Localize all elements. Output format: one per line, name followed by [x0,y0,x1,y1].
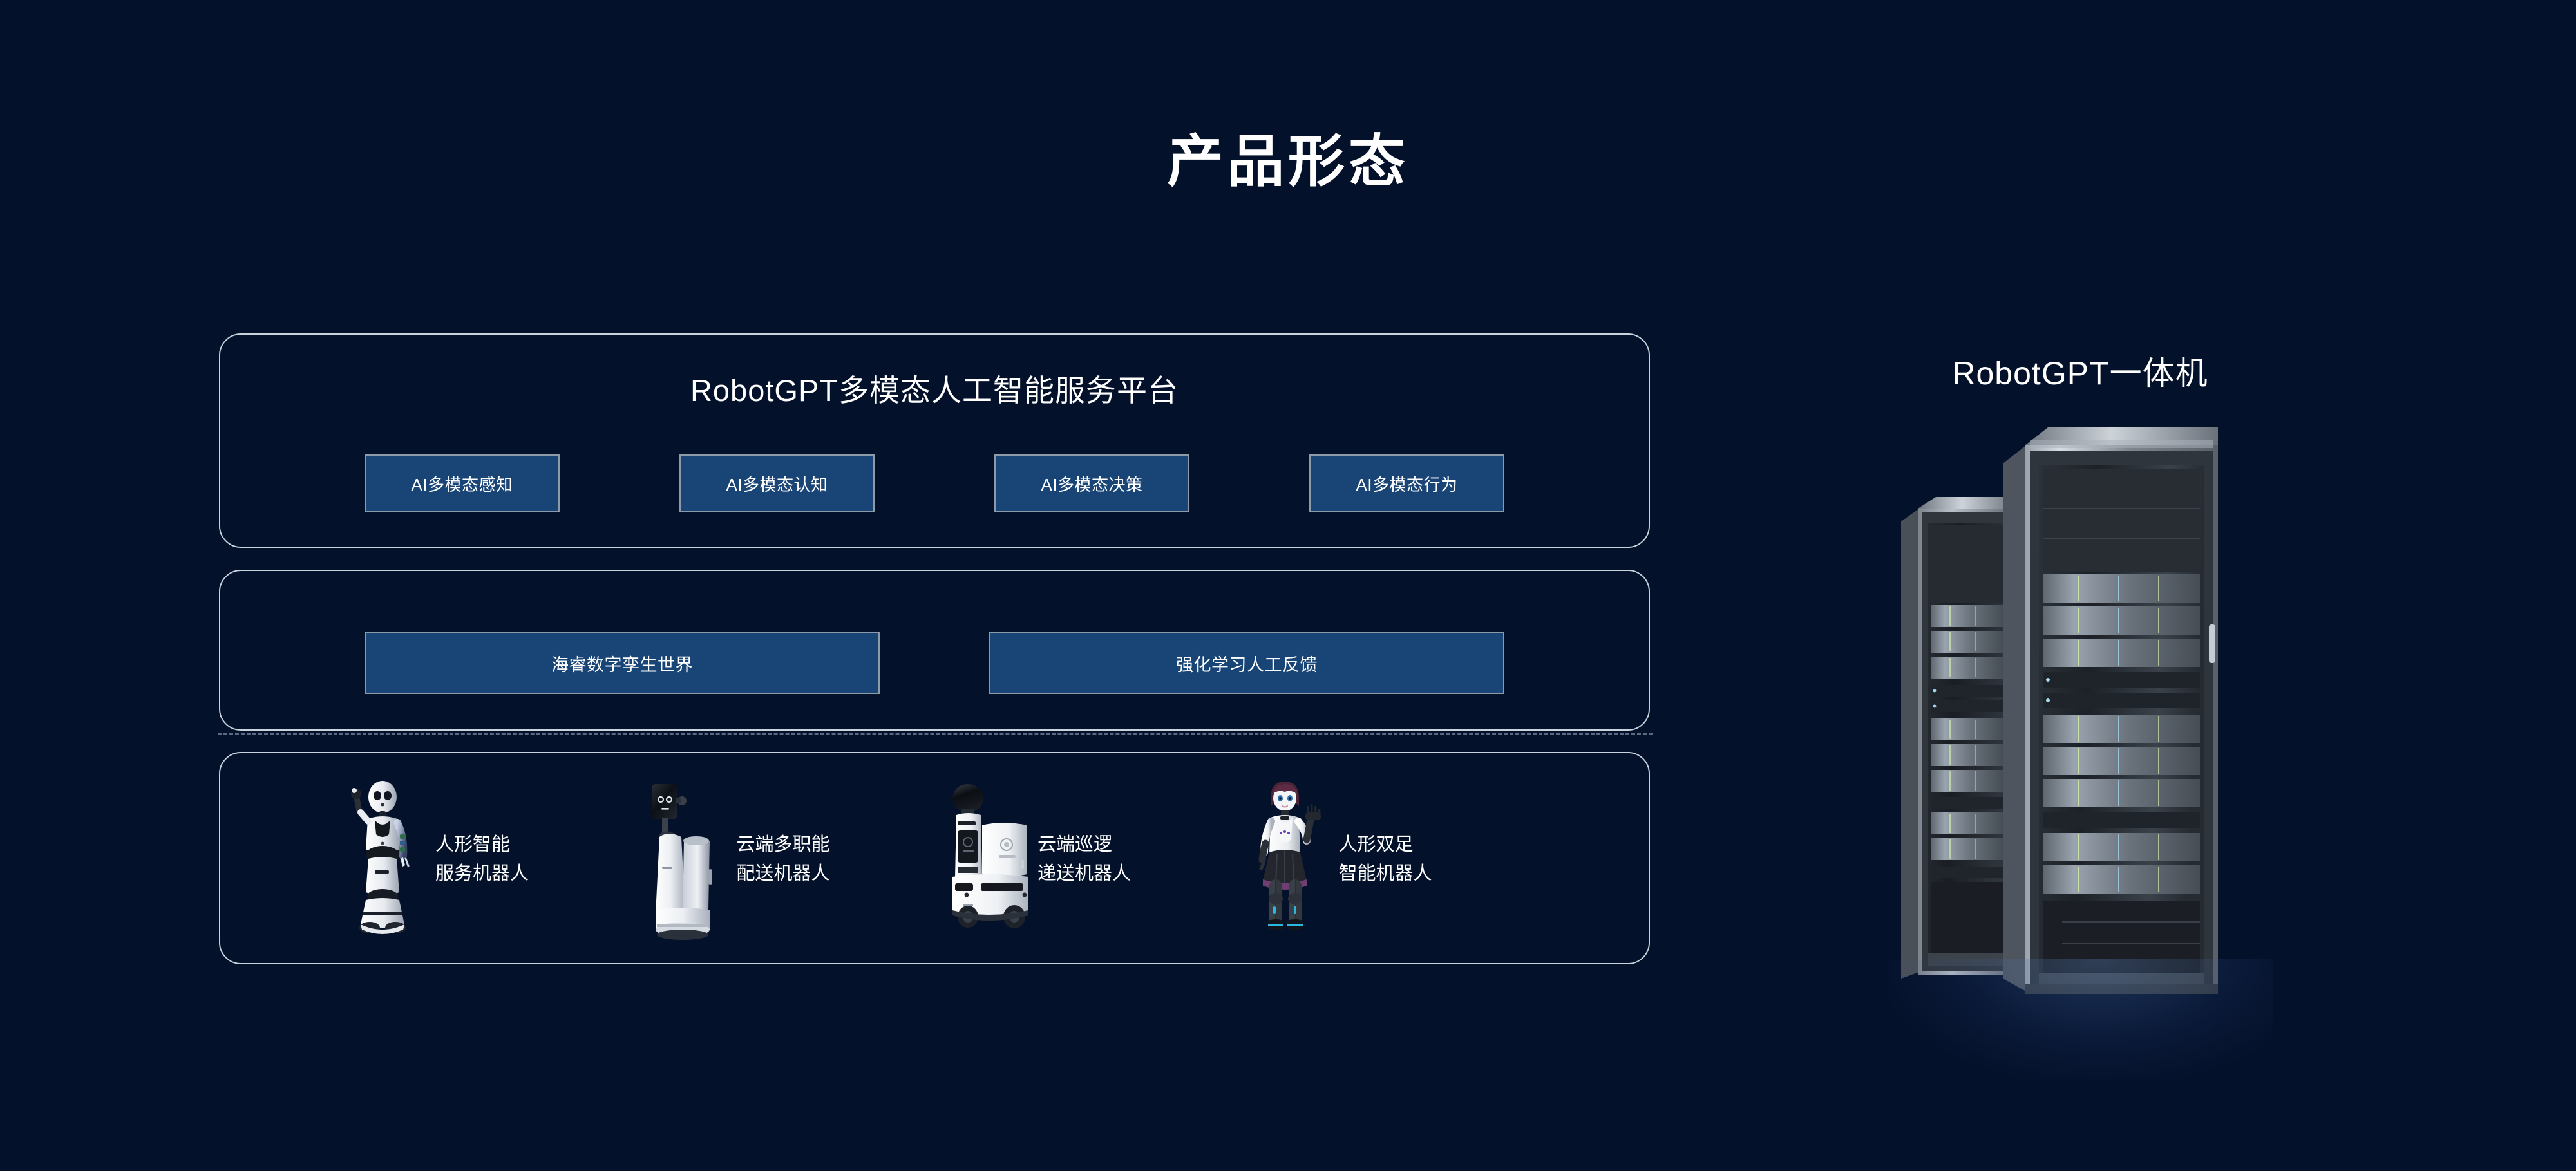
capability-chip-cognition[interactable]: AI多模态认知 [679,454,875,512]
humanoid-service-robot-icon [332,773,429,946]
engine-panel: 海睿数字孪生世界 强化学习人工反馈 [219,570,1650,731]
server-section-title: RobotGPT一体机 [1790,348,2370,394]
robot-label-line2: 递送机器人 [1037,859,1131,888]
robot-panel: 人形智能 服务机器人 [219,752,1650,964]
robot-label: 云端巡逻 递送机器人 [1037,830,1131,888]
robot-label: 云端多职能 配送机器人 [737,830,830,888]
platform-panel-title: RobotGPT多模态人工智能服务平台 [220,366,1649,410]
cloud-patrol-vehicle-icon [934,773,1031,946]
page-title: 产品形态 [0,116,2576,198]
robot-label-line1: 云端多职能 [737,830,830,859]
robot-label-line1: 人形智能 [435,830,529,859]
engine-chip-row: 海睿数字孪生世界 强化学习人工反馈 [249,632,1620,694]
capability-chip-label: AI多模态决策 [1041,472,1142,496]
capability-chip-label: AI多模态感知 [411,472,513,496]
capability-chip-label: AI多模态认知 [726,472,828,496]
robot-label-line2: 配送机器人 [737,859,830,888]
server-rack-left [1901,497,2016,979]
robot-item-cloud-delivery[interactable]: .. .. .. 云端多职能 配送机器人 [634,769,935,950]
server-rack-right [2003,427,2218,994]
robot-label: 人形双足 智能机器人 [1339,830,1432,888]
cloud-delivery-robot-icon: .. .. .. [634,773,730,946]
capability-chip-label: AI多模态行为 [1356,472,1457,496]
section-divider [218,733,1653,735]
capability-chip-row: AI多模态感知 AI多模态认知 AI多模态决策 AI多模态行为 [249,454,1620,512]
robot-label-line1: 云端巡逻 [1037,830,1131,859]
robot-item-cloud-patrol[interactable]: 云端巡逻 递送机器人 [934,769,1236,950]
server-rack-icon [1893,412,2254,1043]
capability-chip-action[interactable]: AI多模态行为 [1309,454,1504,512]
slide-root: 产品形态 RobotGPT多模态人工智能服务平台 AI多模态感知 AI多模态认知… [0,0,2576,1171]
engine-chip-label: 强化学习人工反馈 [1176,651,1318,676]
capability-chip-decision[interactable]: AI多模态决策 [994,454,1189,512]
bipedal-humanoid-robot-icon [1236,773,1332,946]
engine-chip-rlhf[interactable]: 强化学习人工反馈 [989,632,1504,694]
robot-list: 人形智能 服务机器人 [249,769,1620,950]
robot-item-bipedal-humanoid[interactable]: 人形双足 智能机器人 [1236,769,1537,950]
engine-chip-digital-twin[interactable]: 海睿数字孪生世界 [365,632,880,694]
capability-chip-perception[interactable]: AI多模态感知 [365,454,560,512]
robot-label-line2: 智能机器人 [1339,859,1432,888]
robot-label-line2: 服务机器人 [435,859,529,888]
robot-item-humanoid-service[interactable]: 人形智能 服务机器人 [332,769,634,950]
engine-chip-label: 海睿数字孪生世界 [551,651,693,676]
robot-label-line1: 人形双足 [1339,830,1432,859]
platform-panel: RobotGPT多模态人工智能服务平台 AI多模态感知 AI多模态认知 AI多模… [219,333,1650,548]
robot-label: 人形智能 服务机器人 [435,830,529,888]
